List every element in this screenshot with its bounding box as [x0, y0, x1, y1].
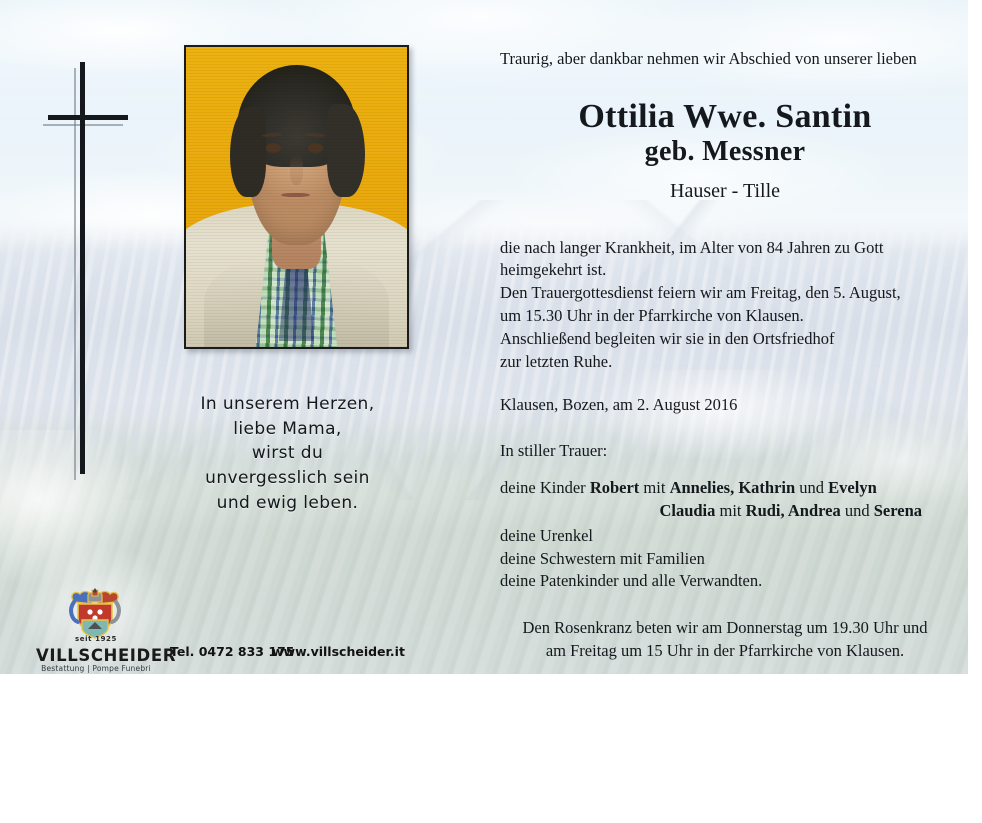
mourners-children-line-1: deine Kinder Robert mit Annelies, Kathri… — [500, 477, 950, 500]
coat-of-arms-crest-icon — [66, 588, 124, 640]
cross-icon — [48, 62, 128, 474]
cross-shadow-vertical — [74, 68, 76, 480]
rosary-notice: Den Rosenkranz beten wir am Donnerstag u… — [500, 617, 950, 663]
deceased-name-primary: Ottilia Wwe. Santin — [500, 98, 950, 136]
poem-line: liebe Mama, — [175, 417, 400, 442]
memorial-poem: In unserem Herzen, liebe Mama, wirst du … — [175, 392, 400, 515]
rosary-line: am Freitag um 15 Uhr in der Pfarrkirche … — [500, 640, 950, 663]
poem-line: wirst du — [175, 441, 400, 466]
mourners-children: deine Kinder Robert mit Annelies, Kathri… — [500, 477, 950, 523]
funeral-announcement-card: In unserem Herzen, liebe Mama, wirst du … — [0, 0, 968, 674]
children-prefix: deine Kinder — [500, 478, 590, 497]
company-name: VILLSCHEIDER — [36, 646, 156, 665]
poem-line: unvergesslich sein — [175, 466, 400, 491]
body-line: Den Trauergottesdienst feiern wir am Fre… — [500, 282, 950, 305]
poem-line: und ewig leben. — [175, 491, 400, 516]
deceased-maiden-name: geb. Messner — [500, 136, 950, 167]
body-line: zur letzten Ruhe. — [500, 351, 950, 374]
announcement-text-column: Traurig, aber dankbar nehmen wir Abschie… — [500, 48, 950, 663]
founding-year: seit 1925 — [36, 635, 156, 643]
children-names-2: Claudia mit Rudi, Andrea und Serena — [659, 501, 922, 520]
mourners-relatives: deine Urenkel deine Schwestern mit Famil… — [500, 525, 950, 593]
cross-bar-horizontal — [48, 115, 128, 120]
place-and-date: Klausen, Bozen, am 2. August 2016 — [500, 395, 950, 415]
announcement-body: die nach langer Krankheit, im Alter von … — [500, 237, 950, 374]
mourning-title: In stiller Trauer: — [500, 441, 950, 461]
children-names-1: Robert mit Annelies, Kathrin und Evelyn — [590, 478, 877, 497]
company-tagline: Bestattung | Pompe Funebri — [36, 664, 156, 673]
cross-bar-vertical — [80, 62, 85, 474]
portrait-photo-frame — [184, 45, 409, 349]
body-line: um 15.30 Uhr in der Pfarrkirche von Klau… — [500, 305, 950, 328]
body-line: die nach langer Krankheit, im Alter von … — [500, 237, 950, 260]
portrait-photo — [186, 47, 407, 347]
deceased-house-name: Hauser - Tille — [500, 180, 950, 203]
poem-line: In unserem Herzen, — [175, 392, 400, 417]
body-line: heimgekehrt ist. — [500, 259, 950, 282]
mourners-children-line-2: Claudia mit Rudi, Andrea und Serena — [500, 500, 950, 523]
body-line: Anschließend begleiten wir sie in den Or… — [500, 328, 950, 351]
relatives-line: deine Patenkinder und alle Verwandten. — [500, 570, 950, 593]
rosary-line: Den Rosenkranz beten wir am Donnerstag u… — [500, 617, 950, 640]
relatives-line: deine Urenkel — [500, 525, 950, 548]
announcement-intro: Traurig, aber dankbar nehmen wir Abschie… — [500, 48, 950, 70]
portrait-grain — [186, 47, 407, 347]
company-website[interactable]: www.villscheider.it — [272, 644, 405, 659]
deceased-name: Ottilia Wwe. Santin geb. Messner — [500, 98, 950, 167]
relatives-line: deine Schwestern mit Familien — [500, 548, 950, 571]
